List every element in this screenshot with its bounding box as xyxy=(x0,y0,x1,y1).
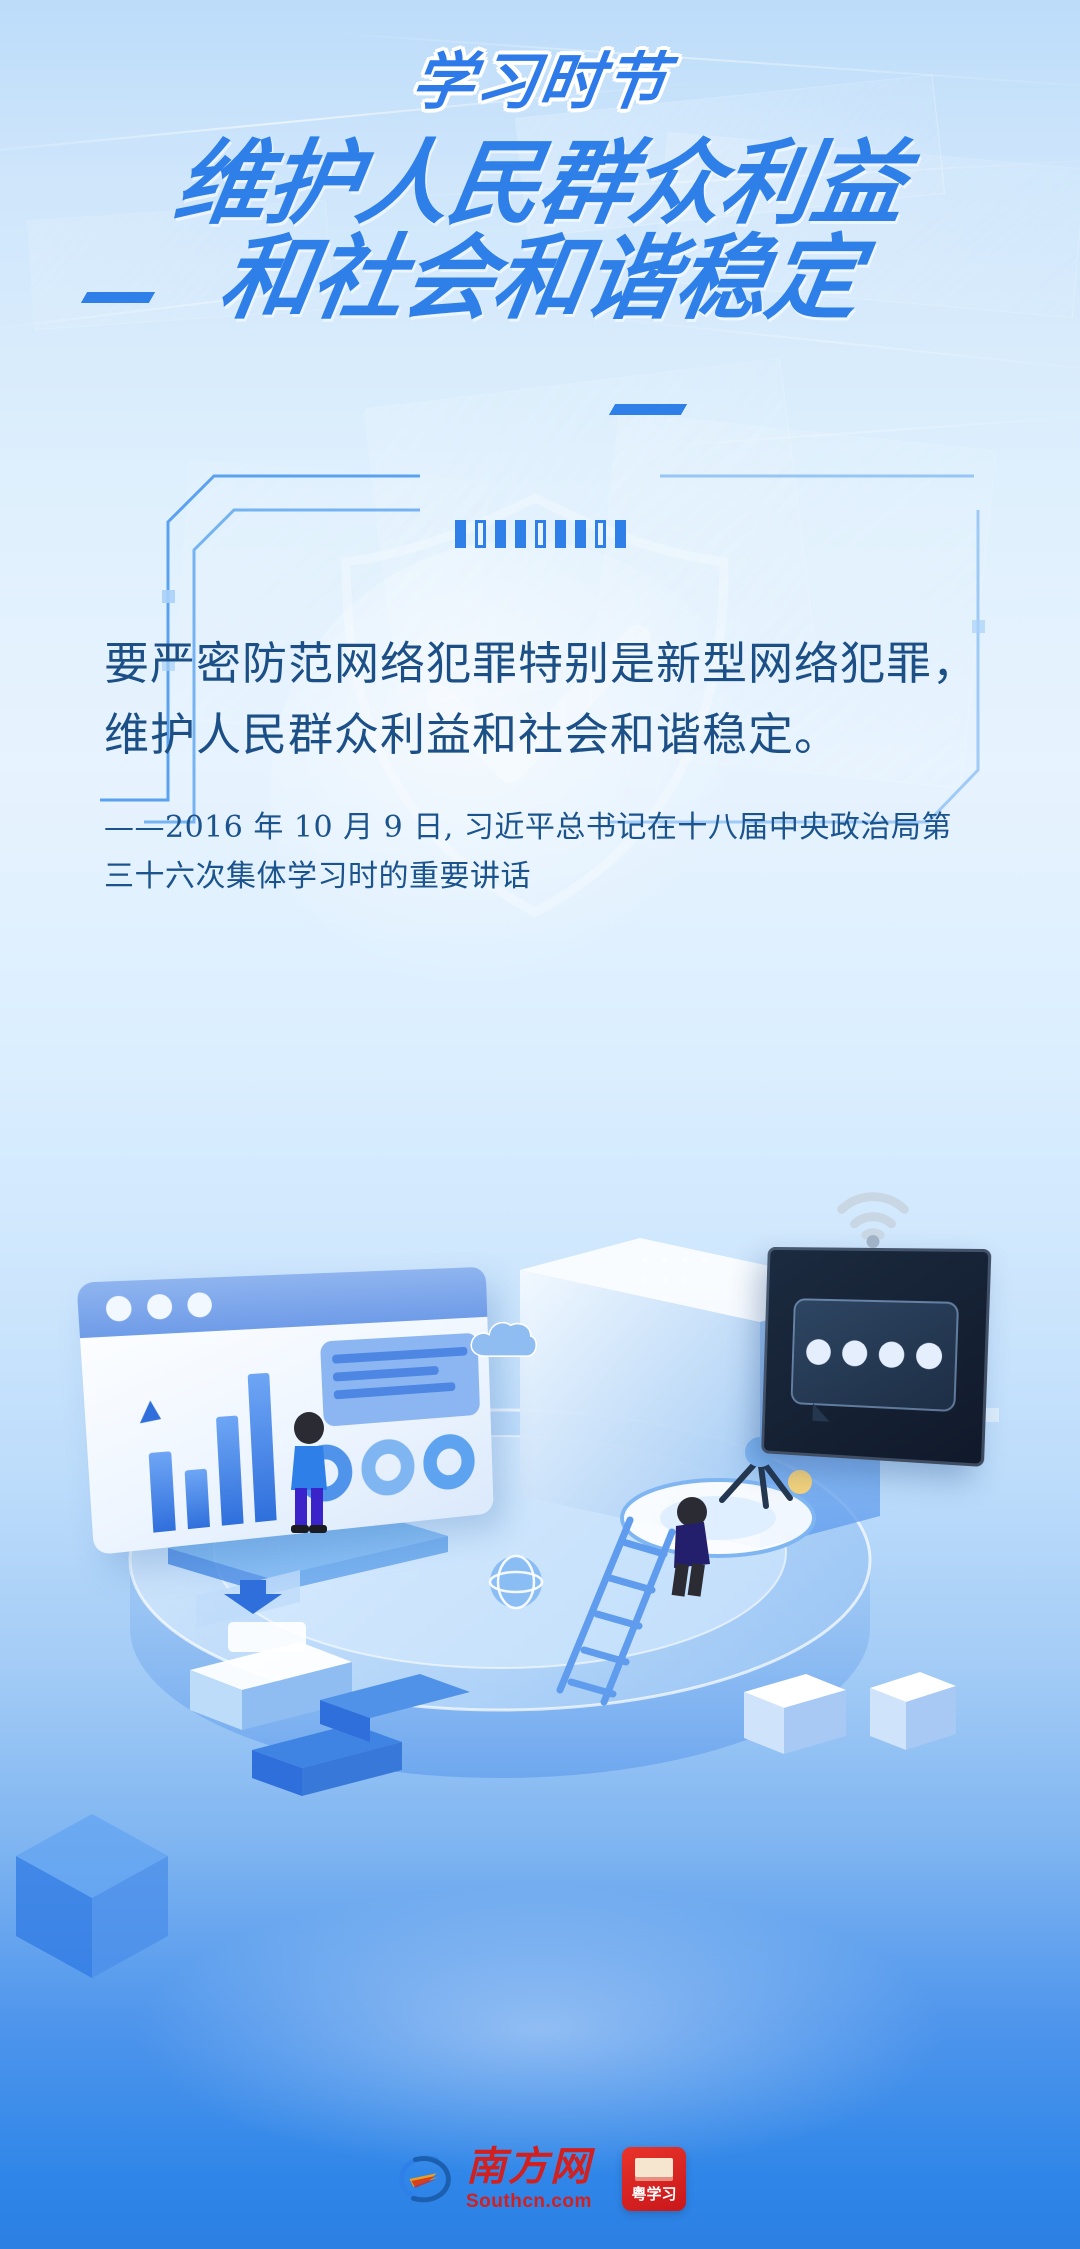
chat-dot xyxy=(916,1342,943,1369)
poster-root: 学习时节 维护人民群众利益 和社会和谐稳定 xyxy=(0,0,1080,2249)
headline-tick-left xyxy=(81,292,155,303)
chat-dot xyxy=(842,1340,868,1367)
brand-label: 学习时节 xyxy=(408,52,673,114)
page-title: 维护人民群众利益 和社会和谐稳定 xyxy=(0,140,1080,324)
brand-label-wrap: 学习时节 xyxy=(0,52,1080,114)
quote-text: 要严密防范网络犯罪特别是新型网络犯罪，维护人民群众利益和社会和谐稳定。 xyxy=(104,628,980,770)
traffic-light-dot xyxy=(187,1292,213,1318)
headline-line-1: 维护人民群众利益 xyxy=(0,140,1080,229)
quote-attribution: ——2016 年 10 月 9 日, 习近平总书记在十八届中央政治局第三十六次集… xyxy=(104,804,980,901)
tooltip-row xyxy=(333,1366,439,1382)
figure-standing xyxy=(275,1410,345,1540)
logo-southcn[interactable]: 南方网 Southcn.com xyxy=(394,2147,592,2211)
figure-climbing xyxy=(648,1492,728,1602)
southcn-cn-label: 南方网 xyxy=(466,2147,592,2187)
illustration-scene xyxy=(0,1230,1080,2060)
cursor-icon xyxy=(140,1401,166,1431)
bar-chart-bar xyxy=(248,1373,277,1523)
yue-book-icon xyxy=(635,2158,673,2177)
traffic-light-dot xyxy=(146,1294,172,1320)
traffic-light-dot xyxy=(105,1295,132,1322)
donut-chart xyxy=(360,1437,415,1498)
chat-dot xyxy=(878,1341,904,1368)
southcn-text: 南方网 Southcn.com xyxy=(466,2147,592,2211)
donut-chart xyxy=(422,1432,475,1492)
chat-bubble xyxy=(790,1298,959,1412)
chat-dot xyxy=(806,1339,831,1366)
wifi-icon xyxy=(828,1182,918,1248)
bar-chart-bar xyxy=(216,1415,244,1525)
headline-tick-right xyxy=(609,404,687,415)
southcn-swirl-icon xyxy=(394,2148,456,2210)
cloud-icon xyxy=(466,1316,540,1364)
southcn-en-label: Southcn.com xyxy=(466,2192,592,2211)
yue-label: 粤学习 xyxy=(622,2183,686,2204)
quote-block: 要严密防范网络犯罪特别是新型网络犯罪，维护人民群众利益和社会和谐稳定。 ——20… xyxy=(104,628,980,901)
footer-logos: 南方网 Southcn.com 粤学习 xyxy=(0,2147,1080,2211)
headline-line-2: 和社会和谐稳定 xyxy=(0,235,1080,324)
tooltip-row xyxy=(334,1382,456,1399)
chat-monitor xyxy=(761,1247,991,1467)
tooltip-row xyxy=(332,1347,468,1364)
bar-chart-bar xyxy=(149,1451,176,1532)
logo-yue-study[interactable]: 粤学习 xyxy=(622,2147,686,2211)
bar-chart-bar xyxy=(185,1469,210,1530)
